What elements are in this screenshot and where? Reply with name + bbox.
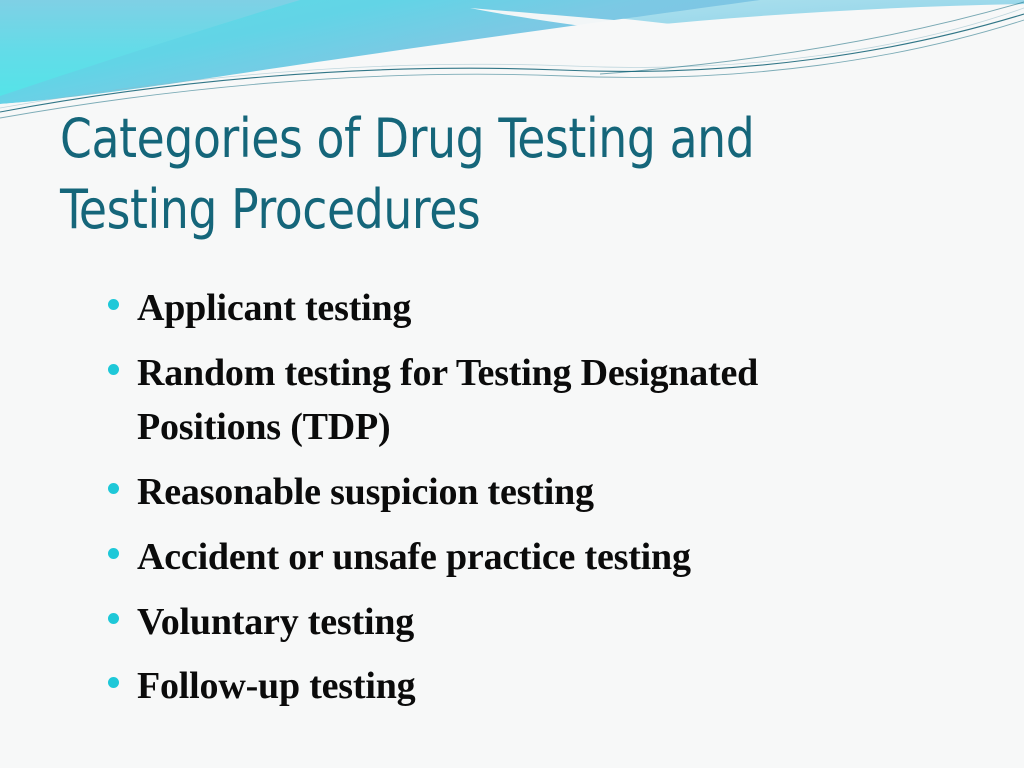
- list-item-label: Applicant testing: [137, 281, 411, 336]
- wave-body-mask: [0, 4, 1024, 120]
- bullet-dot-icon: [108, 483, 119, 494]
- list-item-label: Reasonable suspicion testing: [137, 465, 594, 520]
- list-item-label: Random testing for Testing Designated Po…: [137, 346, 837, 455]
- bullet-list: Applicant testing Random testing for Tes…: [108, 281, 988, 724]
- bullet-dot-icon: [108, 677, 119, 688]
- wave-thin-line-1: [0, 14, 1024, 112]
- wave-band-right-lower: [560, 36, 1024, 96]
- presentation-slide: Categories of Drug Testing and Testing P…: [0, 0, 1024, 768]
- wave-band-upper: [330, 0, 1024, 74]
- wave-band-main: [0, 0, 760, 104]
- wave-banner-decoration: [0, 0, 1024, 120]
- list-item: Applicant testing: [108, 281, 988, 336]
- wave-thin-line-4: [600, 2, 1024, 74]
- list-item: Follow-up testing: [108, 659, 988, 714]
- bullet-dot-icon: [108, 364, 119, 375]
- list-item: Reasonable suspicion testing: [108, 465, 988, 520]
- page-title: Categories of Drug Testing and Testing P…: [60, 104, 906, 245]
- bullet-dot-icon: [108, 613, 119, 624]
- list-item-label: Accident or unsafe practice testing: [137, 530, 691, 585]
- wave-band-left: [0, 0, 300, 96]
- wave-thin-line-3: [0, 8, 1024, 108]
- list-item: Accident or unsafe practice testing: [108, 530, 988, 585]
- wave-banner-svg: [0, 0, 1024, 120]
- wave-base-rect: [0, 0, 1024, 120]
- list-item: Random testing for Testing Designated Po…: [108, 346, 988, 455]
- list-item: Voluntary testing: [108, 595, 988, 650]
- bullet-dot-icon: [108, 299, 119, 310]
- list-item-label: Voluntary testing: [137, 595, 414, 650]
- list-item-label: Follow-up testing: [137, 659, 415, 714]
- title-block: Categories of Drug Testing and Testing P…: [60, 104, 960, 245]
- bullet-dot-icon: [108, 548, 119, 559]
- wave-white-stripe: [470, 8, 1024, 70]
